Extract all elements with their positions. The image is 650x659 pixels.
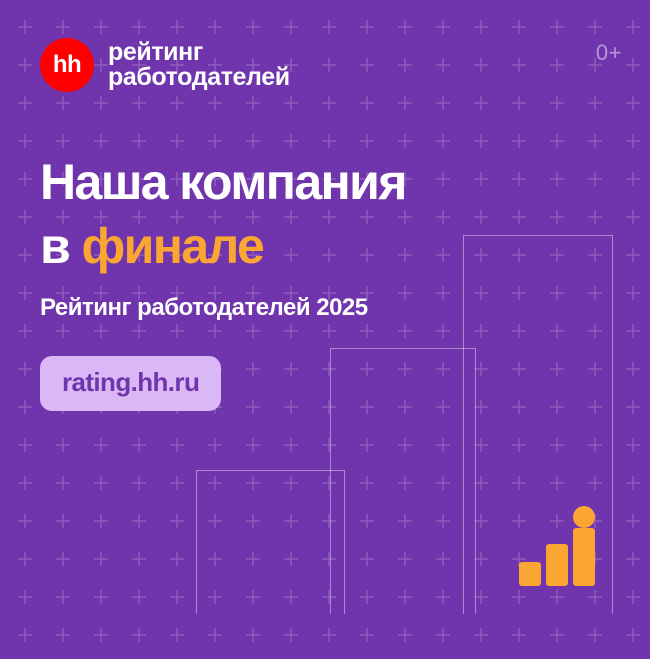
promo-banner: hh рейтинг работодателей 0+ Наша компани… (0, 0, 650, 659)
logo-wordmark-line2: работодателей (108, 65, 290, 91)
url-badge-label: rating.hh.ru (62, 367, 199, 397)
hh-rating-logo: hh рейтинг работодателей (40, 38, 290, 92)
icon-bar-short (519, 562, 541, 586)
logo-wordmark-line1: рейтинг (108, 40, 290, 66)
age-rating-label: 0+ (596, 40, 622, 66)
bar-outline-small (196, 470, 345, 614)
hh-logo-icon: hh (40, 38, 94, 92)
headline-line-2: в финале (40, 221, 406, 271)
icon-bar-tall (573, 528, 595, 586)
hh-logo-text: hh (53, 53, 81, 77)
subtitle: Рейтинг работодателей 2025 (40, 294, 368, 322)
headline-accent-word: финале (81, 218, 263, 274)
headline-line-1: Наша компания (40, 157, 406, 207)
bar-chart-person-icon (519, 506, 595, 586)
headline-line-2-prefix: в (40, 218, 81, 274)
icon-person-head (573, 506, 595, 528)
page-title: Наша компания в финале (40, 157, 406, 271)
url-badge[interactable]: rating.hh.ru (40, 356, 221, 411)
bar-outline-medium (330, 348, 476, 614)
icon-bar-medium (546, 544, 568, 586)
logo-wordmark: рейтинг работодателей (108, 40, 290, 91)
